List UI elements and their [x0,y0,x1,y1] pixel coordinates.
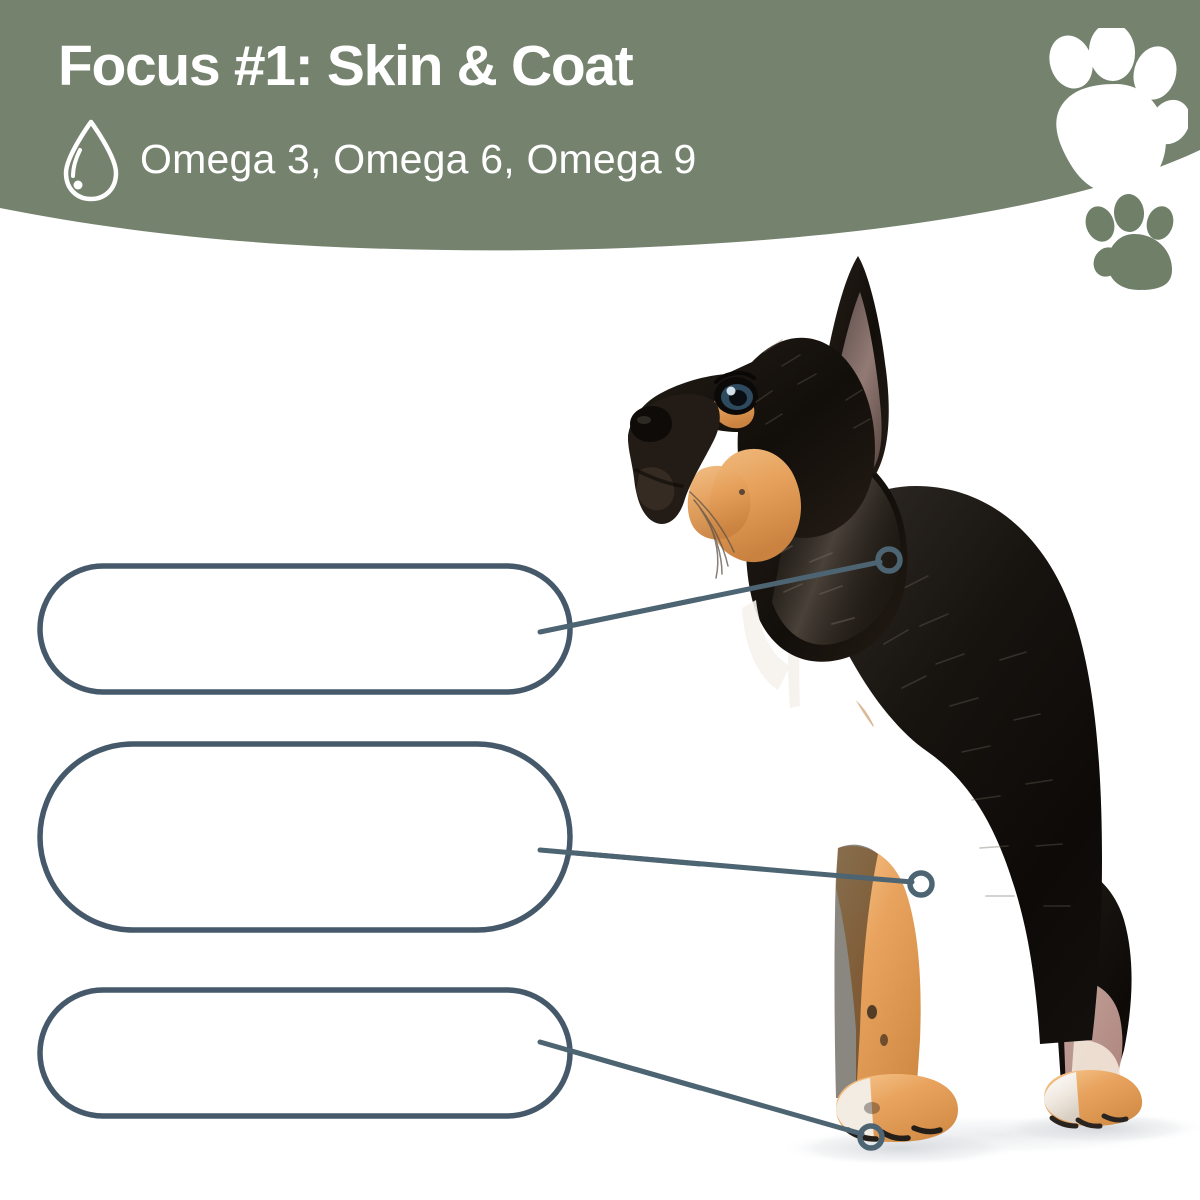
callout-bubble-reduces-skin-allergies[interactable] [40,744,570,930]
infographic-canvas: Focus #1: Skin & Coat Omega 3, Omega 6, … [0,0,1200,1200]
callout-bubble-reduces-itching[interactable] [40,990,570,1116]
callout-group [0,0,1200,1200]
callout-bubble-shinier-coat[interactable] [40,566,570,692]
leader-endpoint-circle-2 [860,1126,882,1148]
